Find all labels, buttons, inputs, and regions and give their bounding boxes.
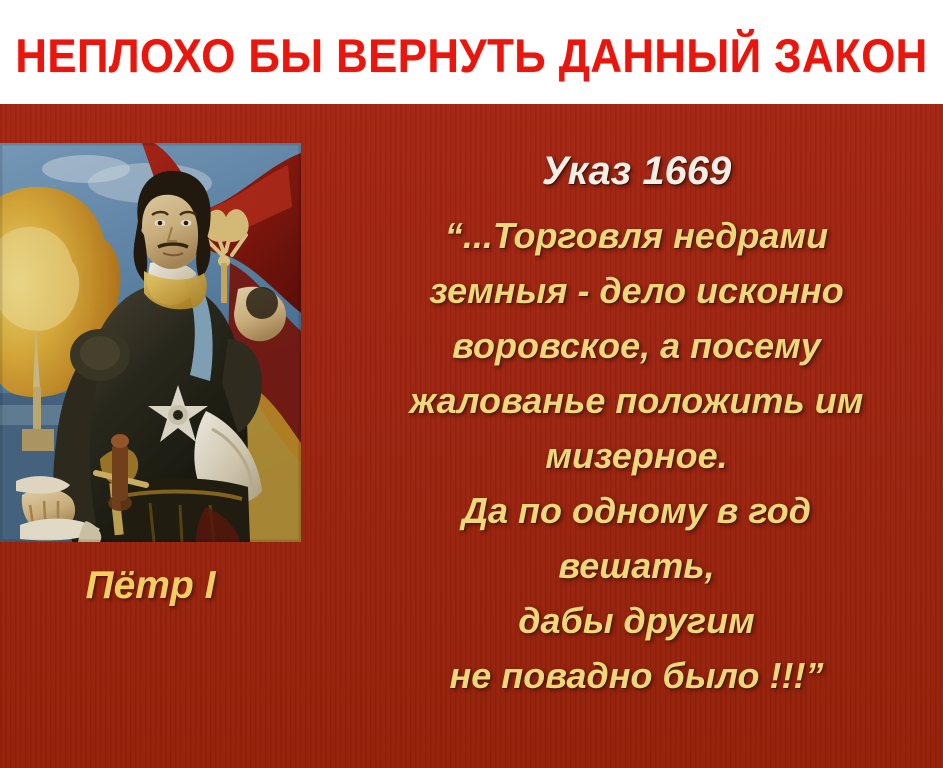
decree-quote: “...Торговля недрами земныя - дело искон…	[330, 208, 943, 703]
decree-line: мизерное.	[330, 428, 943, 483]
portrait-caption: Пётр I	[0, 566, 301, 605]
decree-title: Указ 1669	[330, 150, 943, 192]
decree-line: Да по одному в год	[330, 483, 943, 538]
decree-line: вешать,	[330, 538, 943, 593]
meme-poster: НЕПЛОХО БЫ ВЕРНУТЬ ДАННЫЙ ЗАКОН	[0, 0, 943, 768]
portrait-illustration	[0, 143, 301, 542]
peter-the-great-portrait	[0, 143, 301, 542]
banner-headline: НЕПЛОХО БЫ ВЕРНУТЬ ДАННЫЙ ЗАКОН	[15, 26, 927, 79]
decree-line: не повадно было !!!”	[330, 648, 943, 703]
portrait-caption-text: Пётр I	[86, 564, 216, 607]
decree-line: земныя - дело исконно	[330, 263, 943, 318]
decree-line: дабы другим	[330, 593, 943, 648]
decree-line: жалованье положить им	[330, 373, 943, 428]
decree-line: “...Торговля недрами	[330, 208, 943, 263]
decree-block: Указ 1669 “...Торговля недрами земныя - …	[330, 150, 943, 703]
decree-line: воровское, а посему	[330, 318, 943, 373]
top-banner: НЕПЛОХО БЫ ВЕРНУТЬ ДАННЫЙ ЗАКОН	[0, 0, 943, 104]
